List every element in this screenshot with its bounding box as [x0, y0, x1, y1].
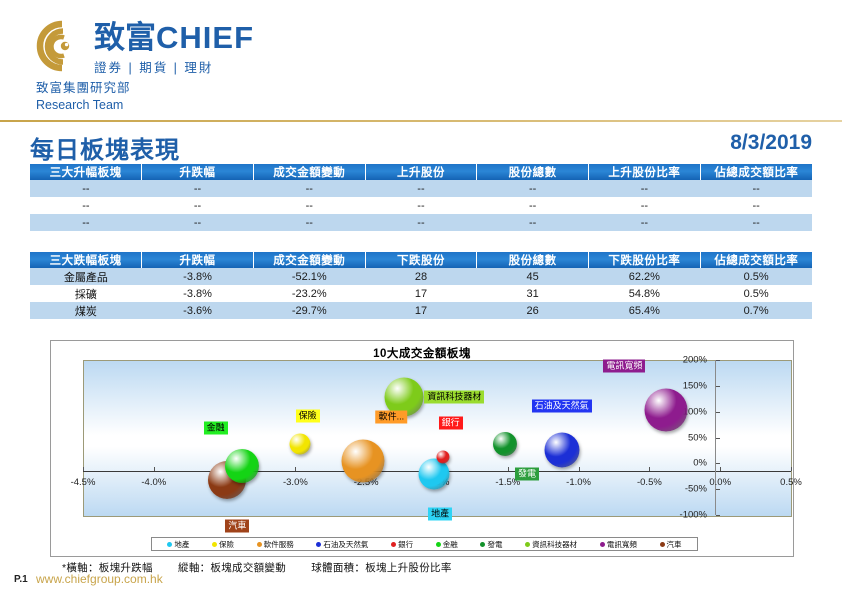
legend-item[interactable]: 發電	[480, 539, 502, 550]
chart-bubble-label: 汽車	[225, 519, 249, 532]
chart-bubble-label: 發電	[515, 467, 539, 480]
company-logo: 致富CHIEF 證券 | 期貨 | 理財	[36, 20, 254, 76]
table-cell: -23.2%	[253, 285, 365, 302]
table-row: 金屬產品-3.8%-52.1%284562.2%0.5%	[30, 268, 812, 285]
chart-bubble-label: 石油及天然氣	[532, 399, 592, 412]
legend-color-swatch-icon	[212, 542, 217, 547]
table-cell: --	[142, 180, 254, 197]
table-row: --------------	[30, 197, 812, 214]
x-axis-tick	[154, 467, 155, 471]
table-cell: --	[589, 197, 701, 214]
y-axis-tick	[716, 386, 720, 387]
chart-bubble	[544, 432, 579, 467]
x-axis-tick	[295, 467, 296, 471]
table-column-header: 三大跌幅板塊	[30, 252, 142, 268]
table-column-header: 升跌幅	[142, 164, 254, 180]
x-axis-tick-label: 0.5%	[780, 477, 802, 488]
legend-color-swatch-icon	[167, 542, 172, 547]
y-axis-tick	[716, 438, 720, 439]
y-axis-tick	[716, 515, 720, 516]
table-cell: 0.5%	[700, 268, 812, 285]
chart-bubble-label: 保險	[296, 409, 320, 422]
table-cell: -3.6%	[142, 302, 254, 319]
sector-name-cell: --	[30, 180, 142, 197]
x-axis-tick	[83, 467, 84, 471]
y-axis-tick-label: 0%	[651, 458, 707, 469]
y-axis-tick-label: 200%	[651, 355, 707, 366]
logo-tagline: 證券 | 期貨 | 理財	[94, 57, 254, 76]
legend-item-label: 汽車	[667, 539, 682, 550]
chart-plot-right-pane	[715, 360, 792, 517]
y-axis-tick	[716, 463, 720, 464]
table-cell: -52.1%	[253, 268, 365, 285]
department-name-en: Research Team	[36, 97, 131, 114]
table-cell: 31	[477, 285, 589, 302]
chart-bubble	[289, 433, 310, 454]
legend-color-swatch-icon	[316, 542, 321, 547]
bubble-chart: 10大成交金額板塊 -4.5%-4.0%-3.5%-3.0%-2.5%-2.0%…	[50, 340, 794, 557]
chart-bubble-label: 銀行	[439, 417, 463, 430]
table-cell: 0.5%	[700, 285, 812, 302]
sector-name-cell: 金屬產品	[30, 268, 142, 285]
table-row: 採礦-3.8%-23.2%173154.8%0.5%	[30, 285, 812, 302]
legend-item[interactable]: 保險	[212, 539, 234, 550]
legend-item-label: 軟件服務	[264, 539, 294, 550]
legend-item[interactable]: 電訊寬頻	[600, 539, 637, 550]
table-cell: --	[477, 197, 589, 214]
table-cell: 65.4%	[589, 302, 701, 319]
chart-bubble	[342, 440, 385, 483]
table-cell: --	[253, 180, 365, 197]
y-axis-tick	[716, 360, 720, 361]
chart-bubble	[436, 451, 449, 464]
legend-color-swatch-icon	[660, 542, 665, 547]
sector-name-cell: 採礦	[30, 285, 142, 302]
chart-bubble	[645, 388, 688, 431]
chart-bubble	[493, 432, 517, 456]
table-column-header: 上升股份	[365, 164, 477, 180]
chart-bubble-label: 電訊寬頻	[603, 359, 645, 372]
chart-bubble	[225, 449, 259, 483]
chart-bubble-label: 地產	[428, 507, 452, 520]
legend-item[interactable]: 銀行	[391, 539, 413, 550]
legend-item[interactable]: 資訊科技器材	[525, 539, 577, 550]
x-axis-tick-label: -4.0%	[141, 477, 166, 488]
table-cell: -3.8%	[142, 285, 254, 302]
table-cell: --	[253, 214, 365, 231]
x-axis-tick-label: -4.5%	[71, 477, 96, 488]
department-block: 致富集團研究部 Research Team	[36, 80, 131, 114]
table-cell: --	[142, 214, 254, 231]
page-number: P.1	[14, 574, 28, 585]
legend-item-label: 資訊科技器材	[532, 539, 577, 550]
y-axis-tick-label: 50%	[651, 432, 707, 443]
legend-item-label: 金融	[443, 539, 458, 550]
department-name-cn: 致富集團研究部	[36, 80, 131, 97]
table-cell: 0.7%	[700, 302, 812, 319]
x-axis-tick-label: 0.0%	[709, 477, 731, 488]
table-cell: --	[700, 214, 812, 231]
legend-item-label: 保險	[219, 539, 234, 550]
legend-color-swatch-icon	[525, 542, 530, 547]
y-axis-tick-label: -100%	[651, 510, 707, 521]
y-axis-tick-label: -50%	[651, 484, 707, 495]
y-axis-tick	[716, 489, 720, 490]
website-url[interactable]: www.chiefgroup.com.hk	[36, 572, 163, 586]
table-cell: 45	[477, 268, 589, 285]
table-column-header: 佔總成交額比率	[700, 252, 812, 268]
legend-color-swatch-icon	[436, 542, 441, 547]
table-cell: --	[589, 214, 701, 231]
table-cell: --	[142, 197, 254, 214]
top-gainers-table: 三大升幅板塊升跌幅成交金額變動上升股份股份總數上升股份比率佔總成交額比率 ---…	[30, 164, 812, 231]
table-column-header: 上升股份比率	[589, 164, 701, 180]
footnote-bubble-size: 球體面積：板塊上升股份比率	[311, 562, 451, 574]
table-column-header: 下跌股份比率	[589, 252, 701, 268]
legend-item[interactable]: 石油及天然氣	[316, 539, 368, 550]
legend-item[interactable]: 軟件服務	[257, 539, 294, 550]
table-column-header: 三大升幅板塊	[30, 164, 142, 180]
logo-chinese-name: 致富	[94, 20, 156, 55]
header-divider	[0, 120, 842, 122]
legend-color-swatch-icon	[600, 542, 605, 547]
table-cell: --	[365, 214, 477, 231]
legend-color-swatch-icon	[257, 542, 262, 547]
sector-name-cell: 煤炭	[30, 302, 142, 319]
legend-item-label: 石油及天然氣	[323, 539, 368, 550]
table-cell: 62.2%	[589, 268, 701, 285]
legend-item-label: 發電	[487, 539, 502, 550]
x-axis-tick	[720, 467, 721, 471]
table-cell: -29.7%	[253, 302, 365, 319]
table-row: --------------	[30, 214, 812, 231]
table-header-row: 三大升幅板塊升跌幅成交金額變動上升股份股份總數上升股份比率佔總成交額比率	[30, 164, 812, 180]
legend-item[interactable]: 汽車	[660, 539, 682, 550]
x-axis-tick-label: -1.0%	[566, 477, 591, 488]
report-date: 8/3/2019	[730, 131, 812, 155]
table-cell: --	[365, 180, 477, 197]
table-header-row: 三大跌幅板塊升跌幅成交金額變動下跌股份股份總數下跌股份比率佔總成交額比率	[30, 252, 812, 268]
table-column-header: 下跌股份	[365, 252, 477, 268]
sector-name-cell: --	[30, 197, 142, 214]
sector-name-cell: --	[30, 214, 142, 231]
x-axis-tick	[508, 467, 509, 471]
table-cell: 17	[365, 285, 477, 302]
logo-english-name: CHIEF	[156, 20, 254, 55]
x-axis-tick-label: -3.0%	[283, 477, 308, 488]
table-cell: 54.8%	[589, 285, 701, 302]
footnote-y-axis: 縱軸：板塊成交額變動	[178, 562, 286, 574]
table-column-header: 股份總數	[477, 252, 589, 268]
legend-item-label: 銀行	[398, 539, 413, 550]
legend-item-label: 地產	[174, 539, 189, 550]
slide-page: 致富CHIEF 證券 | 期貨 | 理財 致富集團研究部 Research Te…	[0, 0, 842, 595]
x-axis-tick	[791, 467, 792, 471]
legend-color-swatch-icon	[391, 542, 396, 547]
chart-legend: 地產保險軟件服務石油及天然氣銀行金融發電資訊科技器材電訊寬頻汽車	[151, 537, 698, 551]
table-row: --------------	[30, 180, 812, 197]
top-losers-table: 三大跌幅板塊升跌幅成交金額變動下跌股份股份總數下跌股份比率佔總成交額比率 金屬產…	[30, 252, 812, 319]
legend-item[interactable]: 金融	[436, 539, 458, 550]
table-cell: -3.8%	[142, 268, 254, 285]
table-cell: --	[700, 197, 812, 214]
legend-item-label: 電訊寬頻	[607, 539, 637, 550]
table-row: 煤炭-3.6%-29.7%172665.4%0.7%	[30, 302, 812, 319]
chief-swirl-icon	[36, 20, 88, 72]
chart-bubble-label: 資訊科技器材	[424, 391, 484, 404]
table-column-header: 升跌幅	[142, 252, 254, 268]
table-cell: 17	[365, 302, 477, 319]
table-cell: --	[700, 180, 812, 197]
legend-item[interactable]: 地產	[167, 539, 189, 550]
page-title: 每日板塊表現	[30, 130, 180, 165]
table-column-header: 成交金額變動	[253, 164, 365, 180]
x-axis-tick	[579, 467, 580, 471]
chart-bubble-label: 軟件...	[376, 411, 408, 424]
table-cell: --	[589, 180, 701, 197]
chart-bubble-label: 金融	[204, 421, 228, 434]
table-column-header: 成交金額變動	[253, 252, 365, 268]
legend-color-swatch-icon	[480, 542, 485, 547]
table-column-header: 股份總數	[477, 164, 589, 180]
table-cell: 28	[365, 268, 477, 285]
table-cell: --	[365, 197, 477, 214]
table-cell: --	[253, 197, 365, 214]
table-cell: --	[477, 180, 589, 197]
y-axis-tick	[716, 412, 720, 413]
table-column-header: 佔總成交額比率	[700, 164, 812, 180]
table-cell: --	[477, 214, 589, 231]
table-cell: 26	[477, 302, 589, 319]
